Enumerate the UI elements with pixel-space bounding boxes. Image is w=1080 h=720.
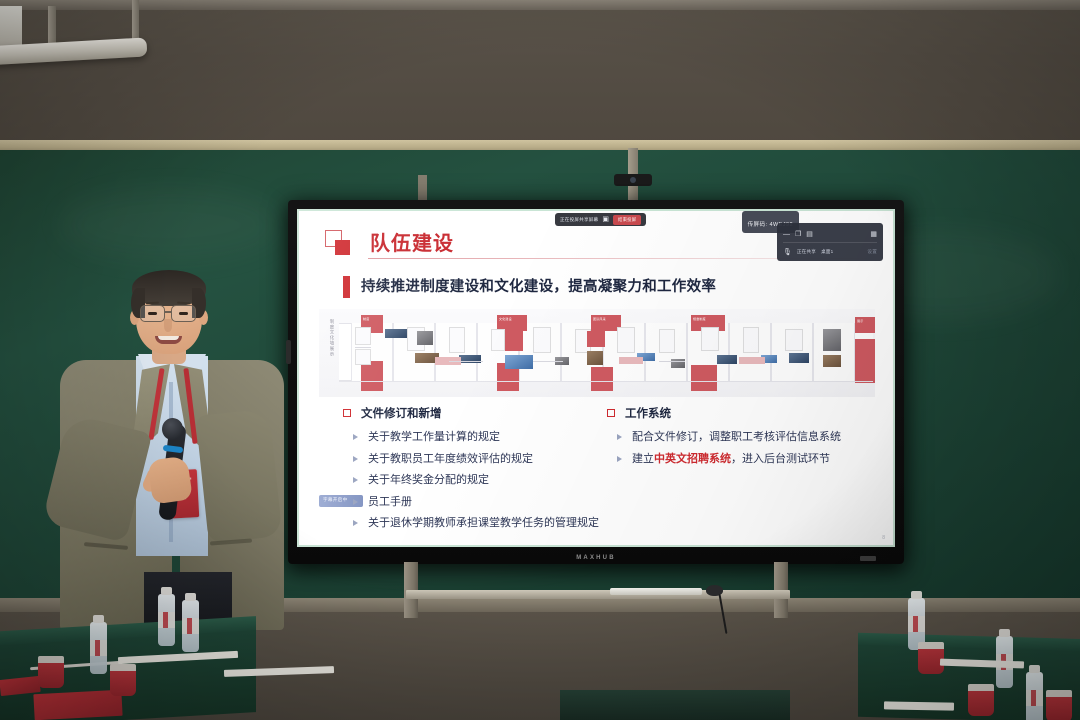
- float-panel-top-row: — ❐ ▤ ▦: [783, 228, 877, 240]
- paper-cup: [968, 684, 994, 716]
- column-heading-left: 文件修订和新增: [343, 405, 633, 425]
- column-heading-right: 工作系统: [607, 405, 895, 425]
- display-brand-logo: MAXHUB: [288, 555, 904, 561]
- bottle-label: [1026, 690, 1043, 706]
- screencast-float-panel[interactable]: — ❐ ▤ ▦ 🎙 正在共享 桌面1 设置: [777, 223, 883, 261]
- water-bottle: [158, 594, 175, 646]
- eye-right: [179, 312, 188, 315]
- light-mount-box: [0, 6, 22, 46]
- bullet-text-before: 建立: [632, 453, 654, 465]
- upper-wall: [0, 0, 1080, 146]
- paper-cup: [38, 656, 64, 688]
- water-bottle: [1026, 672, 1043, 720]
- eye-left: [148, 312, 157, 315]
- ceiling-strip: [0, 0, 1080, 10]
- bullet-text: 关于退休学期教师承担课堂教学任务的管理规定: [368, 514, 599, 530]
- screen-share-icon[interactable]: ▣: [602, 216, 609, 223]
- speaker-presenter: 教授: [52, 272, 292, 642]
- arrow-bullet-icon: [353, 434, 358, 440]
- bottle-label: [90, 640, 107, 656]
- screencast-label: 正在投屏共享屏幕: [560, 217, 598, 223]
- camera-lens-icon: [630, 177, 636, 183]
- sharing-status-text: 正在共享: [797, 249, 816, 255]
- paper-cup: [1046, 690, 1072, 720]
- bullet-text: 关于教学工作量计算的规定: [368, 428, 500, 444]
- arrow-bullet-icon: [617, 434, 622, 440]
- bullet-item: 关于年终奖金分配的规定: [343, 471, 633, 493]
- arrow-bullet-icon: [353, 456, 358, 462]
- water-bottle: [182, 600, 199, 652]
- square-bullet-icon: [343, 409, 351, 417]
- menu-icon[interactable]: ▦: [870, 231, 877, 238]
- bullet-text: 员工手册: [368, 493, 412, 509]
- stop-cast-button[interactable]: 结束投屏: [613, 215, 641, 225]
- paper-sheet: [884, 701, 954, 710]
- screencast-toolbar[interactable]: 正在投屏共享屏幕 ▣ 结束投屏: [555, 213, 646, 226]
- arrow-bullet-icon: [353, 520, 358, 526]
- bottle-label: [908, 616, 925, 632]
- bullet-text: 配合文件修订，调整职工考核评估信息系统: [632, 428, 841, 444]
- bullet-item: 关于教职员工年度绩效评估的规定: [343, 450, 633, 472]
- column-heading-text: 文件修订和新增: [361, 405, 442, 421]
- subtitle-accent-bar: [343, 276, 350, 298]
- interactive-display[interactable]: 队伍建设 持续推进制度建设和文化建设，提高凝聚力和工作效率 制度文化墙展示: [288, 200, 904, 564]
- bullet-text-highlight: 中英文招聘系统: [654, 453, 731, 465]
- column-work-systems: 工作系统 配合文件修订，调整职工考核评估信息系统 建立中英文招聘系统，进入后台测…: [607, 405, 895, 471]
- microphone-icon[interactable]: 🎙: [783, 249, 792, 256]
- presentation-slide: 队伍建设 持续推进制度建设和文化建设，提高凝聚力和工作效率 制度文化墙展示: [297, 209, 895, 547]
- bottle-label: [158, 612, 175, 628]
- photo-scene: 队伍建设 持续推进制度建设和文化建设，提高凝聚力和工作效率 制度文化墙展示: [0, 0, 1080, 720]
- sharing-source-text: 桌面1: [821, 249, 833, 255]
- bottle-label: [182, 618, 199, 634]
- nose: [164, 319, 172, 332]
- bullet-item-with-caption: 字幕开启中 员工手册: [343, 493, 633, 515]
- arrow-bullet-icon: [353, 477, 358, 483]
- minimize-icon[interactable]: —: [783, 231, 790, 238]
- settings-text[interactable]: 设置: [867, 249, 877, 255]
- bullet-text: 建立中英文招聘系统，进入后台测试环节: [632, 450, 830, 466]
- teeth: [158, 336, 179, 340]
- keyboard[interactable]: [610, 588, 702, 595]
- red-folder: [33, 690, 122, 720]
- eyeglasses-bridge: [164, 311, 172, 313]
- square-filled-icon: [335, 240, 350, 255]
- bullet-text: 关于教职员工年度绩效评估的规定: [368, 450, 533, 466]
- bullet-text: 关于年终奖金分配的规定: [368, 471, 489, 487]
- column-file-revisions: 文件修订和新增 关于教学工作量计算的规定 关于教职员工年度绩效评估的规定: [343, 405, 633, 536]
- subtitle-status-text: 字幕开启中: [323, 497, 347, 503]
- bullet-item: 配合文件修订，调整职工考核评估信息系统: [607, 428, 895, 450]
- gallery-side-label: 制度文化墙展示: [323, 319, 335, 357]
- slide-title: 队伍建设: [370, 227, 454, 256]
- slide-subtitle: 持续推进制度建设和文化建设，提高凝聚力和工作效率: [361, 275, 716, 296]
- grid-icon[interactable]: ▤: [806, 231, 813, 238]
- column-heading-text: 工作系统: [625, 405, 671, 421]
- document-gallery-image: 制度文化墙展示 制度: [319, 309, 875, 397]
- bullet-text-after: ，进入后台测试环节: [731, 453, 830, 465]
- jacket-sleeve-right: [196, 408, 283, 543]
- square-bullet-icon: [607, 409, 615, 417]
- slide-page-number: 8: [882, 535, 885, 541]
- arrow-bullet-icon: [617, 456, 622, 462]
- float-panel-divider: [783, 242, 877, 243]
- float-panel-bottom-row: 🎙 正在共享 桌面1 设置: [783, 246, 877, 258]
- arrow-bullet-icon: [353, 499, 358, 505]
- window-icon[interactable]: ❐: [795, 231, 801, 238]
- water-bottle: [90, 622, 107, 674]
- equipment-shelf: [406, 590, 790, 599]
- front-table-center: [560, 690, 790, 720]
- display-screen[interactable]: 队伍建设 持续推进制度建设和文化建设，提高凝聚力和工作效率 制度文化墙展示: [297, 209, 895, 547]
- bullet-item: 关于退休学期教师承担课堂教学任务的管理规定: [343, 514, 633, 536]
- ir-sensor-icon: [860, 556, 876, 561]
- bullet-item-highlighted: 建立中英文招聘系统，进入后台测试环节: [607, 450, 895, 472]
- bullet-item: 关于教学工作量计算的规定: [343, 428, 633, 450]
- paper-cup: [110, 664, 136, 696]
